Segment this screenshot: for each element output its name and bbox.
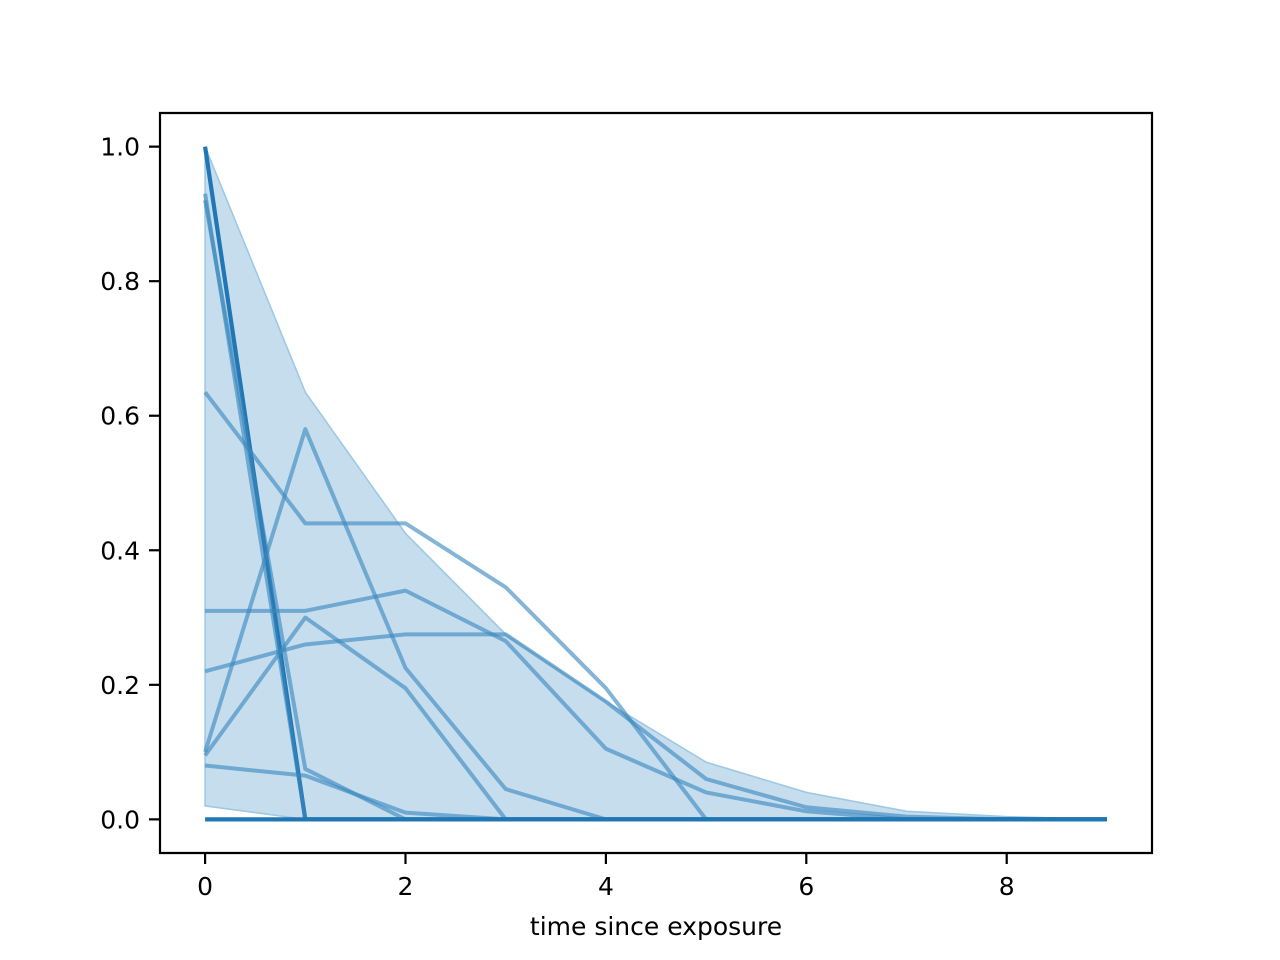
y-tick-label: 0.6 [100,402,140,431]
figure-canvas: 02468 0.00.20.40.60.81.0 time since expo… [0,0,1280,960]
x-tick-label: 2 [398,872,414,901]
x-tick-label: 8 [999,872,1015,901]
y-tick-label: 1.0 [100,133,140,162]
x-tick-label: 0 [197,872,213,901]
chart-plot: 02468 0.00.20.40.60.81.0 time since expo… [0,0,1280,960]
x-tick-label: 6 [798,872,814,901]
y-tick-label: 0.0 [100,805,140,834]
y-tick-label: 0.8 [100,267,140,296]
x-axis-label: time since exposure [530,912,782,941]
y-tick-label: 0.2 [100,671,140,700]
y-tick-label: 0.4 [100,536,140,565]
y-axis-ticks: 0.00.20.40.60.81.0 [100,133,160,835]
x-tick-label: 4 [598,872,614,901]
x-axis-ticks: 02468 [197,853,1015,901]
